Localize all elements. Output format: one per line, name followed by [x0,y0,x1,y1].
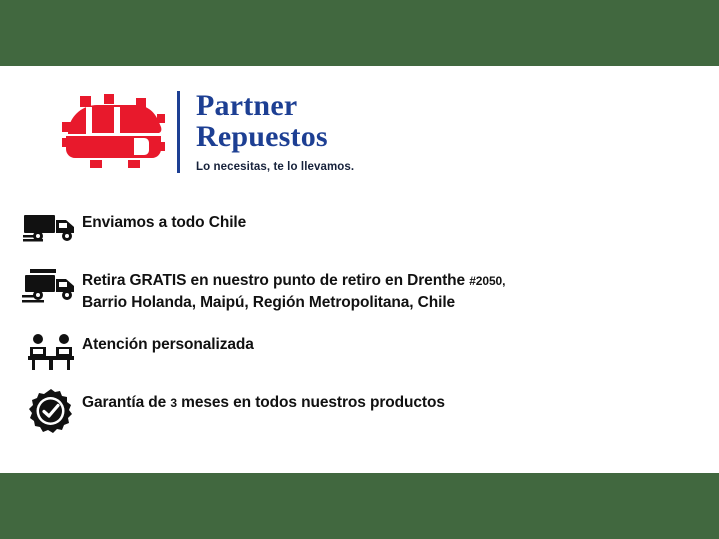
list-item: Enviamos a todo Chile [20,206,700,246]
brand-text: Partner Repuestos Lo necesitas, te lo ll… [196,90,354,173]
car-gear-logo-icon [62,94,165,169]
warranty-badge-check-icon [20,386,82,434]
feature-text-small: #2050, [469,274,505,288]
list-item: Retira GRATIS en nuestro punto de retiro… [20,264,700,314]
brand-name-line2: Repuestos [196,121,354,152]
logo-divider [177,91,180,173]
feature-text-main: Retira GRATIS en nuestro punto de retiro… [82,272,469,289]
feature-text: Atención personalizada [82,328,254,356]
content-card: Partner Repuestos Lo necesitas, te lo ll… [0,66,719,473]
list-item: Atención personalizada [20,328,700,372]
pickup-truck-icon [20,264,82,310]
feature-text-line2: Barrio Holanda, Maipú, Región Metropolit… [82,294,455,311]
feature-text-post: meses en todos nuestros productos [177,394,445,411]
brand-name-line1: Partner [196,90,354,121]
feature-text-pre: Garantía de [82,394,170,411]
logo-header: Partner Repuestos Lo necesitas, te lo ll… [62,90,354,173]
feature-text: Enviamos a todo Chile [82,206,246,234]
feature-text: Garantía de 3 meses en todos nuestros pr… [82,386,445,414]
delivery-truck-icon [20,206,82,246]
brand-tagline: Lo necesitas, te lo llevamos. [196,161,354,173]
list-item: Garantía de 3 meses en todos nuestros pr… [20,386,700,434]
feature-text-small: 3 [170,396,177,410]
feature-text: Retira GRATIS en nuestro punto de retiro… [82,264,505,314]
feature-list: Enviamos a todo Chile [20,206,700,447]
customer-service-desk-icon [20,328,82,372]
